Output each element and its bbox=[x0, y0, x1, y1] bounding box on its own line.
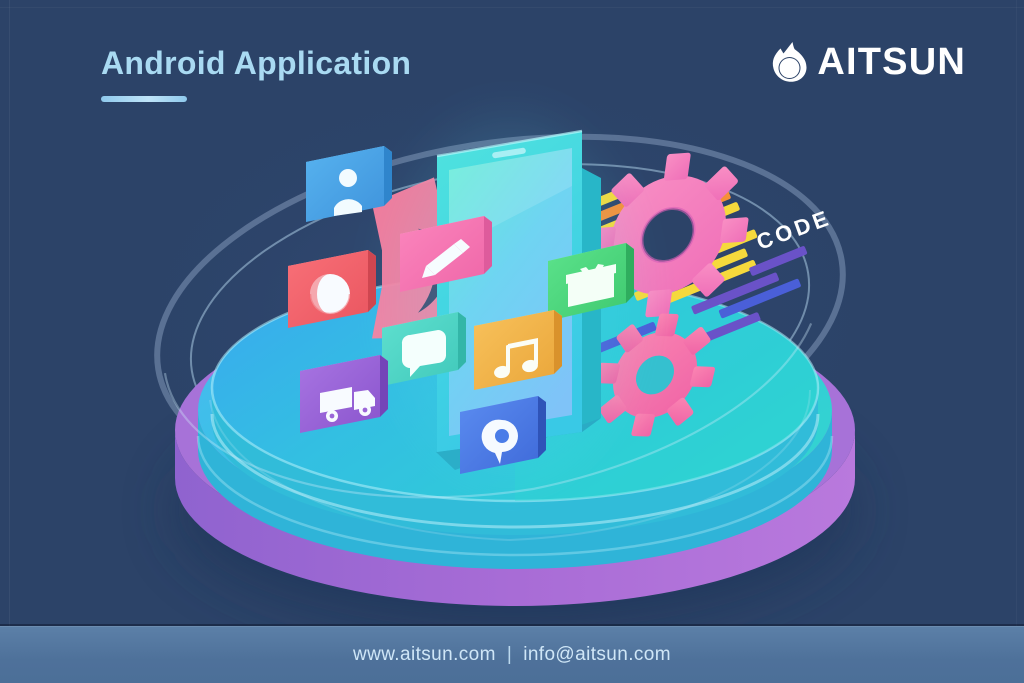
slide-canvas: CODE bbox=[0, 0, 1024, 683]
illustration: CODE bbox=[0, 0, 1024, 683]
footer-contact-text: www.aitsun.com | info@aitsun.com bbox=[353, 644, 671, 666]
brand-logo[interactable]: AITSUN bbox=[771, 40, 966, 84]
footer-divider: | bbox=[507, 644, 512, 666]
page-title: Android Application bbox=[101, 45, 411, 82]
footer-email-link[interactable]: info@aitsun.com bbox=[523, 644, 671, 666]
droplet-swirl-icon bbox=[771, 40, 811, 84]
brand-name: AITSUN bbox=[817, 43, 966, 81]
footer-bar: www.aitsun.com | info@aitsun.com bbox=[0, 626, 1024, 683]
footer-website-link[interactable]: www.aitsun.com bbox=[353, 644, 496, 666]
title-underline-accent bbox=[101, 96, 187, 102]
